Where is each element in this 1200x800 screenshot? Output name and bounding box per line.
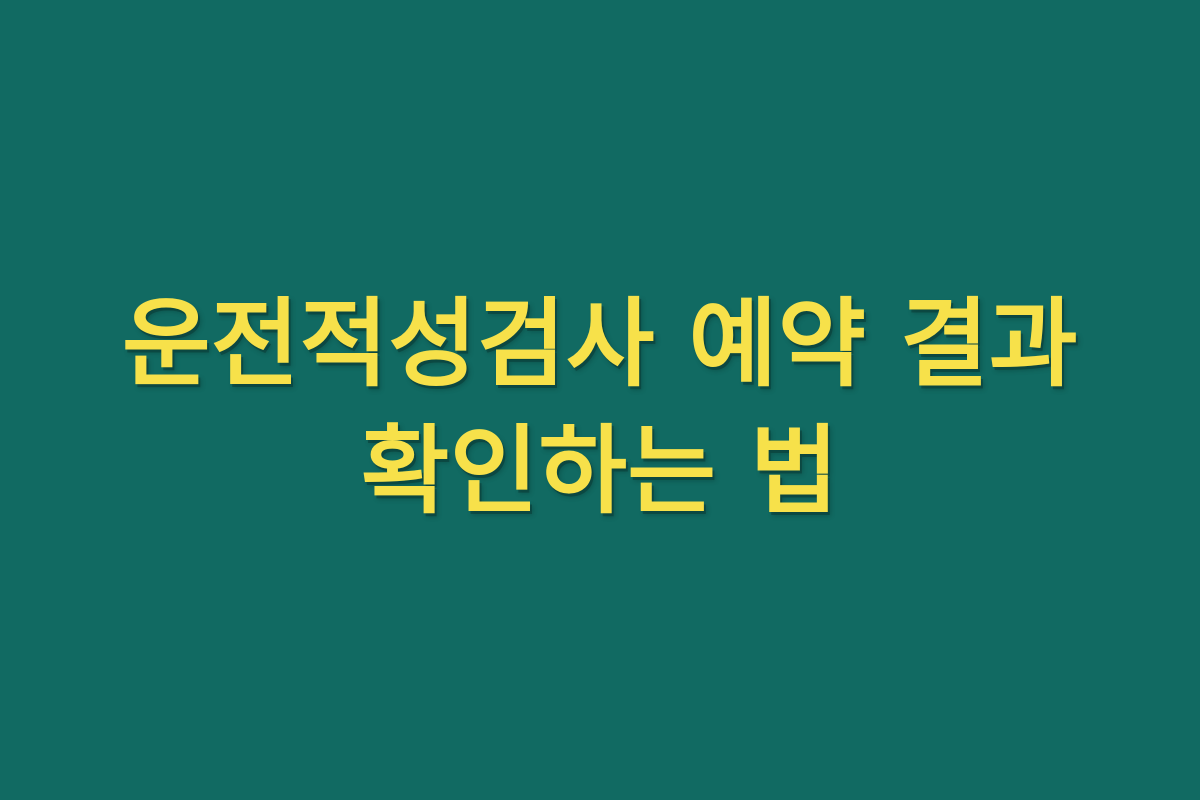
title-text-block: 운전적성검사 예약 결과 확인하는 법 <box>0 281 1200 534</box>
title-card: 운전적성검사 예약 결과 확인하는 법 <box>0 0 1200 800</box>
title-line-1: 운전적성검사 예약 결과 <box>40 281 1160 408</box>
title-line-2: 확인하는 법 <box>40 408 1160 535</box>
